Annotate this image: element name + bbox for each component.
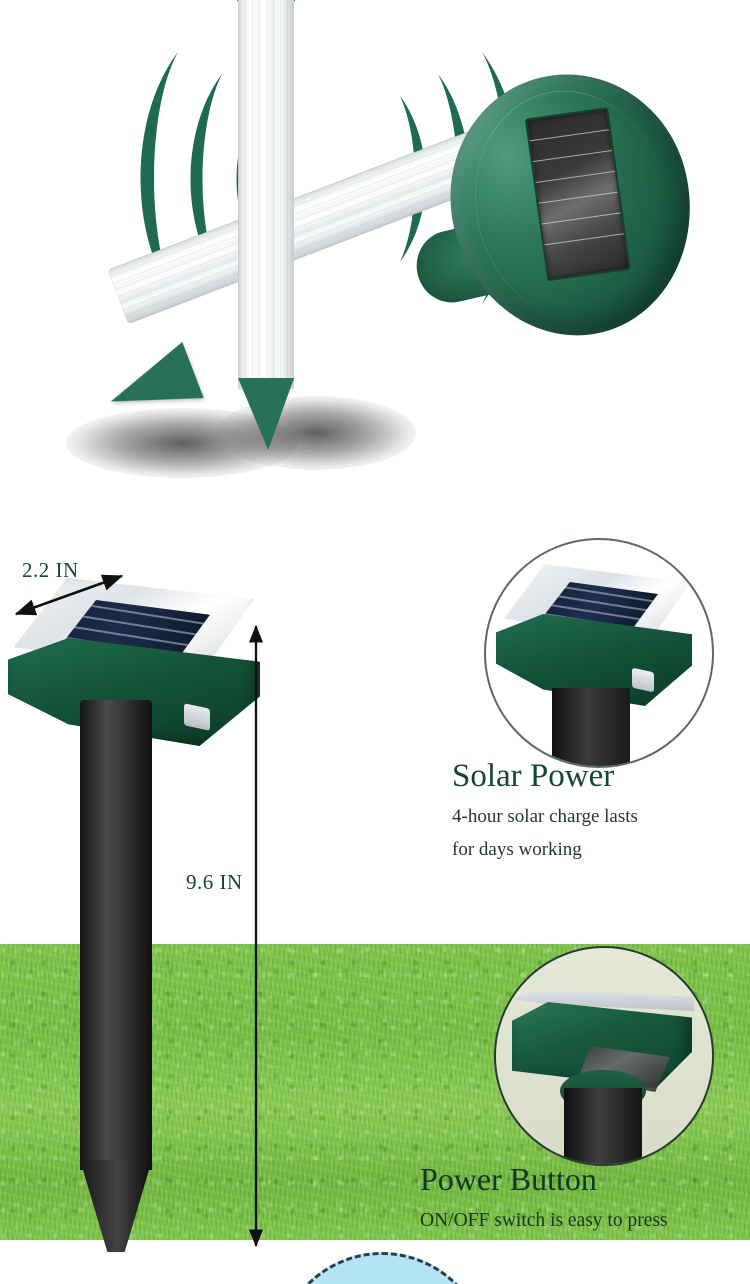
ground-shadow-right (216, 396, 416, 470)
device-pole (564, 1088, 642, 1166)
dimension-device-pole (80, 700, 152, 1170)
solar-dome-head (426, 51, 717, 360)
solar-power-inset-circle (484, 538, 714, 768)
power-button-line-1: ON/OFF switch is easy to press (420, 1204, 750, 1238)
power-button-inset-circle (494, 946, 714, 1166)
product-hero-illustration (0, 0, 750, 520)
power-button-text-block: Power Button ON/OFF switch is easy to pr… (420, 1162, 750, 1237)
solar-power-line-2: for days working (452, 834, 748, 867)
vertical-stake-body (238, 0, 294, 390)
solar-power-text-block: Solar Power 4-hour solar charge lasts fo… (452, 758, 748, 866)
power-button-title: Power Button (420, 1162, 750, 1198)
width-dimension-label: 2.2 IN (22, 558, 79, 583)
product-feature-page: 2.2 IN 9.6 IN Solar Power 4-hour solar c… (0, 0, 750, 1284)
solar-power-title: Solar Power (452, 758, 748, 795)
solar-power-line-1: 4-hour solar charge lasts (452, 801, 748, 834)
device-pole (552, 688, 630, 768)
height-dimension-label: 9.6 IN (186, 870, 243, 895)
blue-dashed-circle (276, 1252, 488, 1284)
